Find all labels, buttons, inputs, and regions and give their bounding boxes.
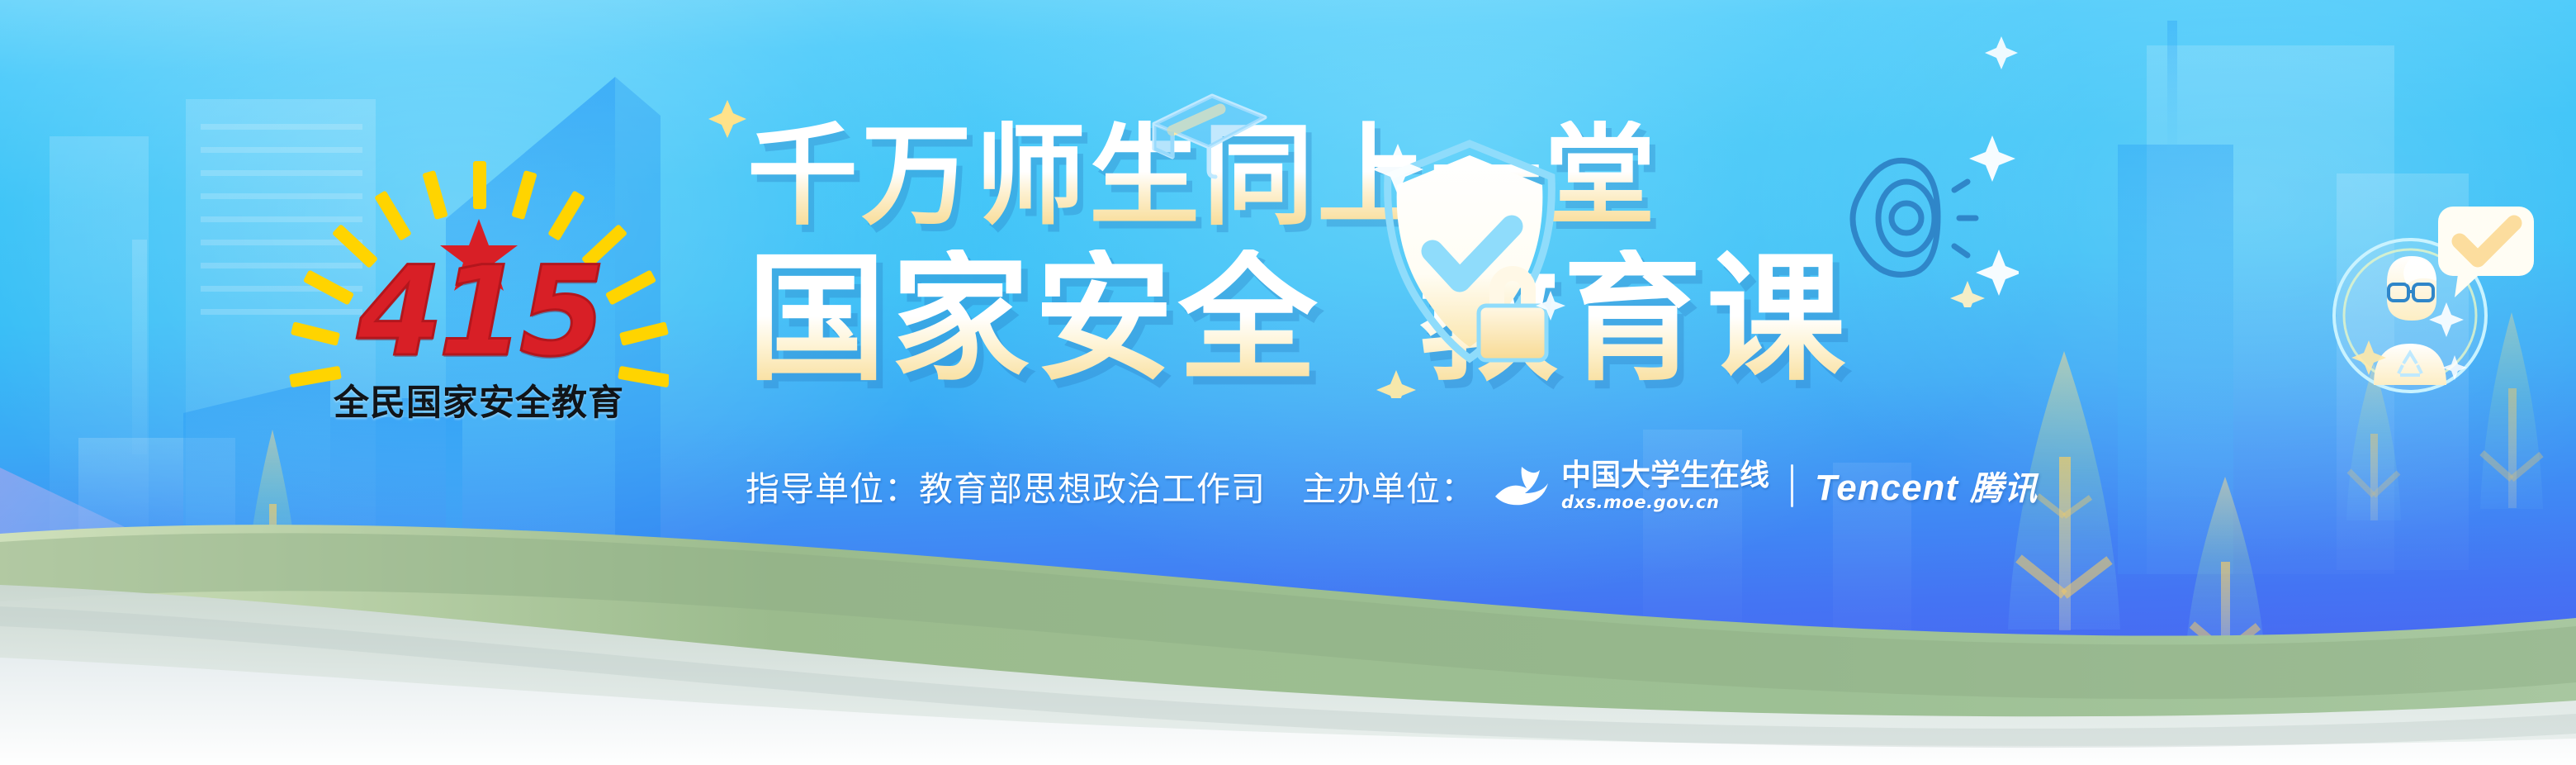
logo-415: 415 全民国家安全教育 (289, 153, 669, 442)
headline-line-2-part1: 国家安全 (747, 238, 1322, 400)
tencent-name-cn: 腾讯 (1970, 470, 2038, 508)
megaphone-icon (1829, 126, 2019, 307)
logo-number: 415 (289, 250, 669, 374)
national-security-education-banner: 415 全民国家安全教育 千万师生同上一堂 国家安全教育课 (0, 0, 2576, 765)
tencent-partner-logo[interactable]: Tencent腾讯 (1815, 462, 2038, 510)
dxs-partner-logo[interactable]: 中国大学生在线 dxs.moe.gov.cn (1489, 460, 1769, 511)
shield-check-lock-icon (1350, 126, 1589, 398)
sparkle-icon (1983, 35, 2020, 71)
tencent-name-en: Tencent (1815, 468, 1958, 508)
sparkle-icon (706, 97, 749, 140)
student-avatar-icon (2308, 193, 2555, 400)
dxs-url: dxs.moe.gov.cn (1561, 494, 1769, 511)
logo-subtitle: 全民国家安全教育 (289, 374, 669, 425)
credits-bar: 指导单位：教育部思想政治工作司 主办单位： 中国大学生在线 dxs.moe.go… (746, 460, 2038, 511)
dxs-bird-icon (1489, 460, 1553, 511)
host-unit-label: 主办单位： (1302, 461, 1475, 511)
dxs-name-cn: 中国大学生在线 (1561, 461, 1769, 491)
guidance-unit-label: 指导单位：教育部思想政治工作司 (746, 461, 1266, 511)
headline-block: 千万师生同上一堂 国家安全教育课 (747, 121, 2035, 388)
partner-divider (1791, 464, 1793, 507)
graduation-cap-icon (1123, 78, 1288, 202)
